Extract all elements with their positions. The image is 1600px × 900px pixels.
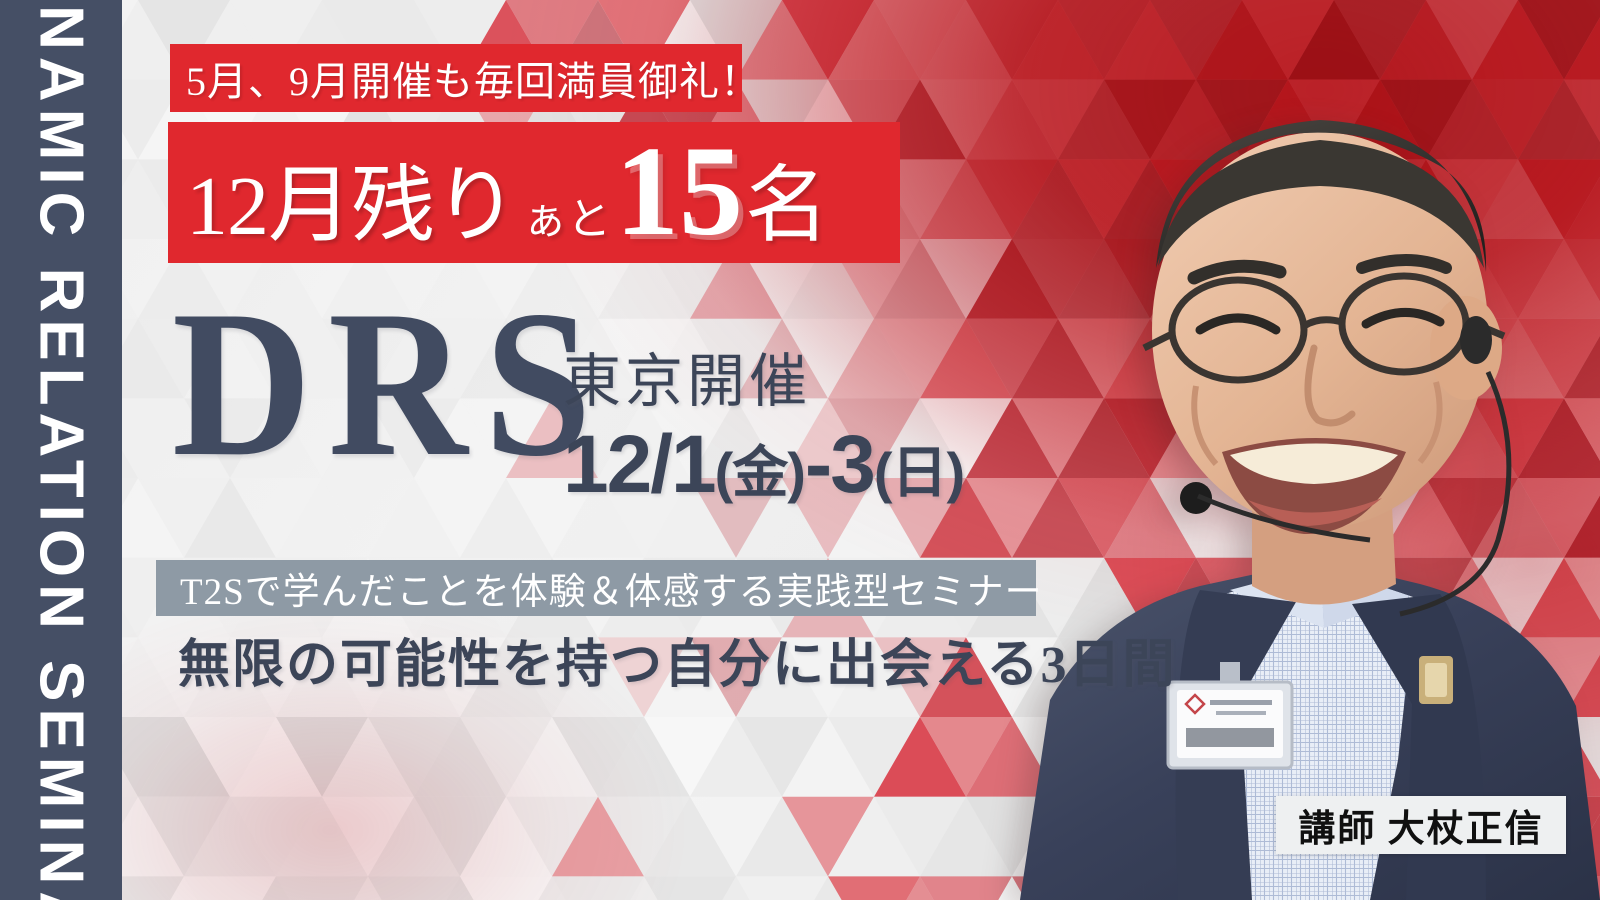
subtitle-text: T2Sで学んだことを体験＆体感する実践型セミナー — [180, 561, 1043, 615]
event-date: 12/1 (金) - 3 (日) — [563, 418, 964, 512]
kicker-text: 5月、9月開催も毎回満員御礼！ — [186, 49, 761, 107]
venue-date-block: 東京開催 12/1 (金) - 3 (日) — [563, 350, 964, 512]
date-start-day: (金) — [715, 428, 805, 509]
date-end-day: (日) — [874, 428, 964, 509]
seats-prefix: 12月残り — [186, 138, 517, 259]
kicker-banner: 5月、9月開催も毎回満員御礼！ — [170, 44, 742, 112]
venue-city: 東京開催 — [563, 350, 964, 414]
subtitle-bar: T2Sで学んだことを体験＆体感する実践型セミナー — [156, 560, 1036, 616]
promotional-banner: DYNAMIC RELATION SEMINAR 5月、9月開催も毎回満員御礼！… — [0, 0, 1600, 900]
remaining-seats-banner: 12月残り ぁと 15 名 — [168, 122, 900, 263]
remaining-seats-line: 12月残り ぁと 15 名 — [186, 127, 829, 259]
sidebar-title: DYNAMIC RELATION SEMINAR — [26, 0, 97, 900]
seats-number: 15 — [613, 127, 745, 255]
seats-unit: 名 — [745, 138, 829, 259]
seats-small: ぁと — [517, 183, 613, 247]
date-start: 12/1 — [563, 418, 715, 512]
speaker-name-badge: 講師 大杖正信 — [1276, 796, 1566, 854]
vertical-sidebar: DYNAMIC RELATION SEMINAR — [0, 0, 122, 900]
drs-logotype: DRS — [172, 288, 608, 481]
date-end: 3 — [830, 418, 874, 512]
tagline-text: 無限の可能性を持つ自分に出会える3日間 — [178, 622, 1176, 697]
speaker-photo — [900, 0, 1600, 900]
date-dash: - — [805, 418, 830, 512]
speaker-name-text: 講師 大杖正信 — [1298, 798, 1543, 852]
